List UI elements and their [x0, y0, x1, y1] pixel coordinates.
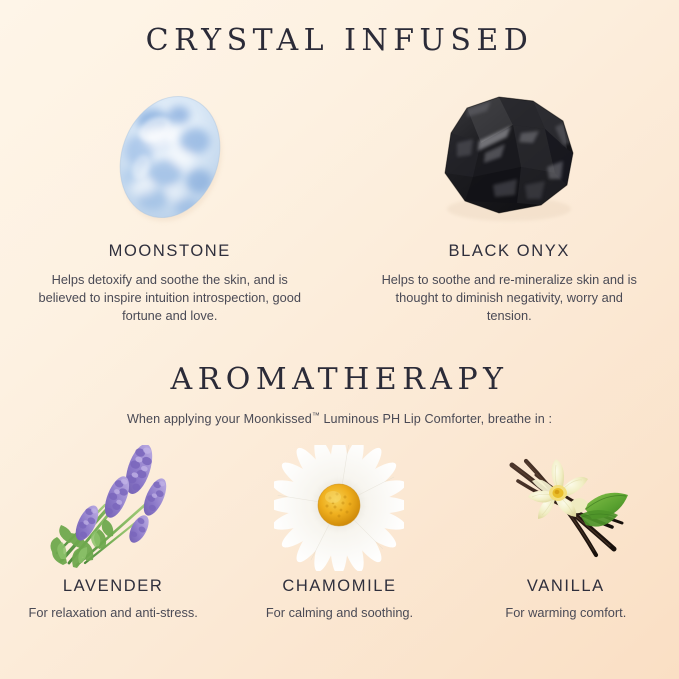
aroma-description-chamomile: For calming and soothing. [266, 605, 413, 620]
aroma-name-chamomile: CHAMOMILE [282, 577, 396, 596]
trademark-symbol: ™ [312, 411, 320, 420]
aroma-description-lavender: For relaxation and anti-stress. [29, 605, 198, 620]
aromatherapy-items-row: LAVENDER For relaxation and anti-stress. [0, 440, 679, 655]
crystal-description-moonstone: Helps detoxify and soothe the skin, and … [34, 271, 306, 325]
infographic-page: CRYSTAL INFUSED [0, 0, 679, 679]
aroma-card-vanilla: VANILLA For warming comfort. [453, 440, 679, 655]
aroma-card-chamomile: CHAMOMILE For calming and soothing. [226, 440, 452, 655]
aromatherapy-subtitle-after: Luminous PH Lip Comforter, breathe in : [320, 412, 552, 426]
vanilla-orchid-icon [496, 440, 636, 575]
aroma-name-vanilla: VANILLA [527, 577, 605, 596]
crystal-card-moonstone: MOONSTONE Helps detoxify and soothe the … [0, 78, 340, 328]
aroma-description-vanilla: For warming comfort. [505, 605, 626, 620]
crystal-card-black-onyx: BLACK ONYX Helps to soothe and re-minera… [340, 78, 679, 328]
crystal-description-black-onyx: Helps to soothe and re-mineralize skin a… [373, 271, 645, 325]
aromatherapy-subtitle: When applying your Moonkissed™ Luminous … [0, 411, 679, 426]
lavender-sprig-icon [43, 440, 183, 575]
aromatherapy-section-heading: AROMATHERAPY [0, 365, 679, 395]
crystal-name-moonstone: MOONSTONE [109, 242, 231, 261]
crystal-section-heading: CRYSTAL INFUSED [0, 26, 679, 56]
moonstone-gem-icon [95, 78, 245, 236]
aromatherapy-subtitle-before: When applying your Moonkissed [127, 412, 312, 426]
crystal-items-row: MOONSTONE Helps detoxify and soothe the … [0, 78, 679, 328]
aroma-card-lavender: LAVENDER For relaxation and anti-stress. [0, 440, 226, 655]
black-onyx-gem-icon [421, 78, 597, 236]
aroma-name-lavender: LAVENDER [63, 577, 164, 596]
chamomile-daisy-icon [274, 440, 404, 575]
crystal-name-black-onyx: BLACK ONYX [449, 242, 570, 261]
